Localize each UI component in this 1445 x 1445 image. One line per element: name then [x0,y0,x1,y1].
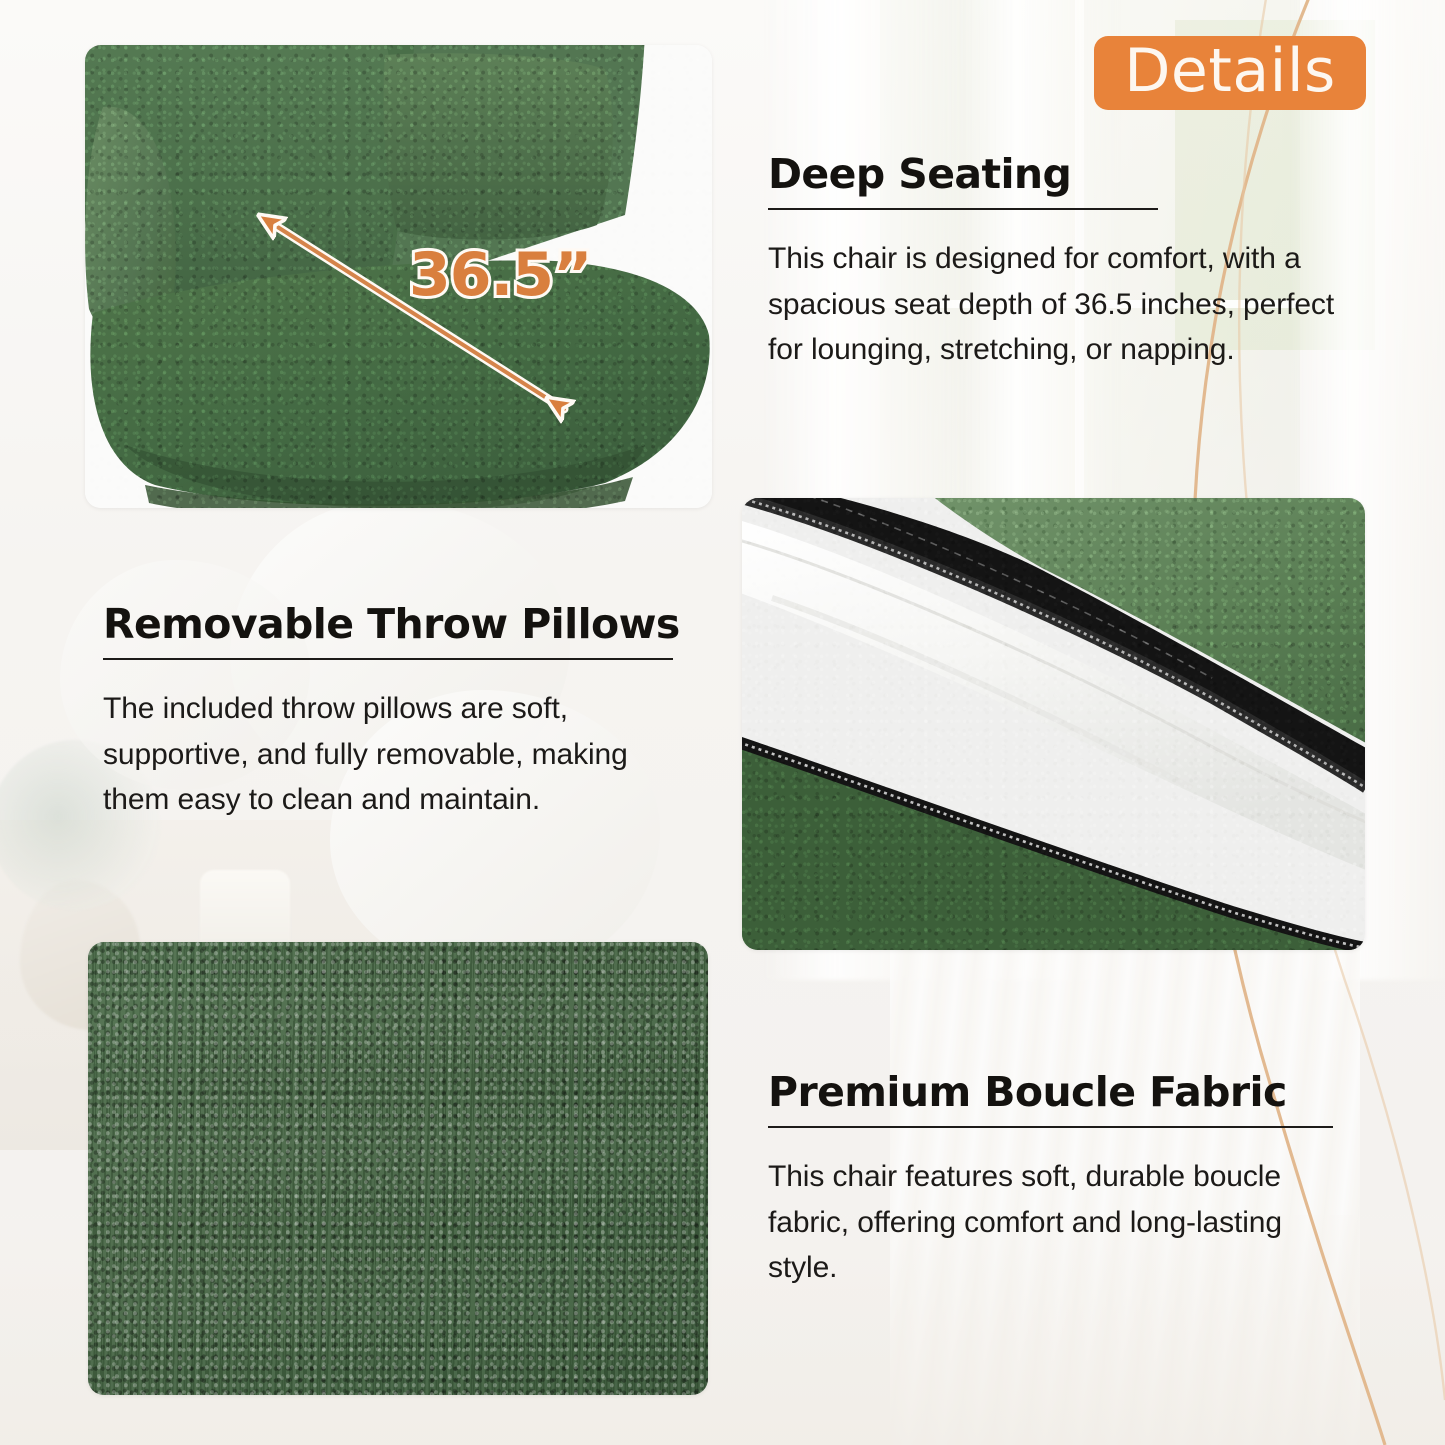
section-deep-seating: Deep Seating This chair is designed for … [768,150,1368,373]
deep-seating-heading: Deep Seating [768,150,1368,198]
section-premium-boucle-fabric: Premium Boucle Fabric This chair feature… [768,1068,1368,1291]
premium-boucle-fabric-heading: Premium Boucle Fabric [768,1068,1368,1116]
deep-seating-underline [768,208,1158,210]
details-page: Details [0,0,1445,1445]
zipper-illustration [742,498,1365,950]
zipper-detail-photo [742,498,1365,950]
premium-boucle-fabric-body: This chair features soft, durable boucle… [768,1154,1328,1291]
removable-throw-pillows-body: The included throw pillows are soft, sup… [103,686,663,823]
section-removable-throw-pillows: Removable Throw Pillows The included thr… [103,600,703,823]
removable-throw-pillows-heading: Removable Throw Pillows [103,600,703,648]
fabric-swatch-base [88,942,708,1395]
seat-depth-photo [85,45,712,508]
details-badge: Details [1094,36,1366,110]
premium-boucle-fabric-underline [768,1126,1333,1128]
seat-depth-illustration [85,45,712,508]
deep-seating-body: This chair is designed for comfort, with… [768,236,1368,373]
dimension-label: 36.5” [409,240,591,310]
details-badge-label: Details [1124,41,1336,101]
lumbar-pillow [384,53,613,239]
fabric-swatch-photo [88,942,708,1395]
removable-throw-pillows-underline [103,658,673,660]
